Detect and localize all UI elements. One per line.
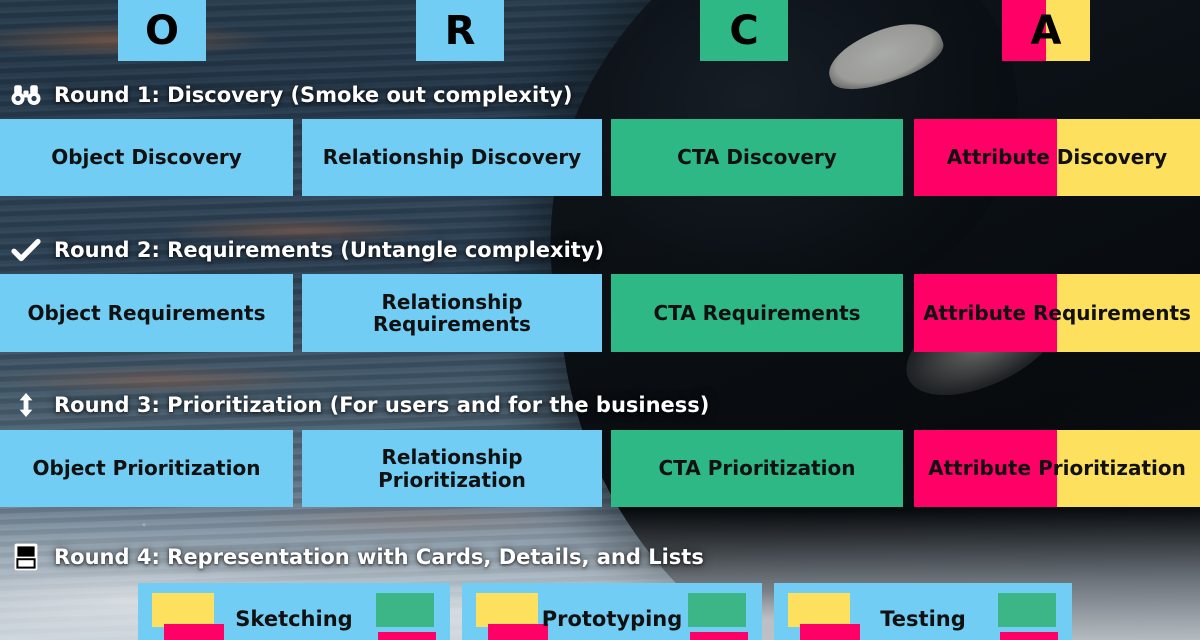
card-sketching-pink-swatch-2: [378, 632, 436, 640]
bar-cta-requirements-label: CTA Requirements: [647, 302, 866, 324]
bar-object-requirements-label: Object Requirements: [21, 302, 271, 324]
card-sketching-label: Sketching: [235, 607, 352, 631]
bar-cta-prioritization[interactable]: CTA Prioritization: [611, 430, 903, 507]
round-4-heading: Round 4: Representation with Cards, Deta…: [10, 540, 704, 574]
bar-attribute-prioritization[interactable]: Attribute Prioritization: [914, 430, 1200, 507]
card-testing-green-swatch: [998, 593, 1056, 627]
card-sketching-yellow-swatch: [152, 593, 214, 627]
bar-gap: [293, 119, 302, 196]
card-gap: [450, 583, 462, 640]
card-layout-icon: [10, 543, 42, 571]
round-1-bar-row: Object Discovery Relationship Discovery …: [0, 119, 1200, 196]
round-2-heading: Round 2: Requirements (Untangle complexi…: [10, 233, 604, 267]
bar-gap: [293, 430, 302, 507]
bar-attribute-requirements[interactable]: Attribute Requirements: [914, 274, 1200, 352]
card-testing-pink-swatch-2: [1000, 632, 1058, 640]
bar-gap: [602, 119, 611, 196]
card-prototyping-label: Prototyping: [542, 607, 683, 631]
card-testing-label: Testing: [880, 607, 966, 631]
bar-gap: [903, 274, 914, 352]
card-prototyping-pink-swatch: [488, 624, 548, 640]
bar-cta-discovery[interactable]: CTA Discovery: [611, 119, 903, 196]
bar-gap: [602, 430, 611, 507]
bar-cta-prioritization-label: CTA Prioritization: [653, 457, 862, 479]
checkmark-icon: [10, 236, 42, 264]
bar-gap: [293, 274, 302, 352]
bar-attribute-discovery[interactable]: Attribute Discovery: [914, 119, 1200, 196]
acronym-letter-a: A: [1002, 0, 1090, 61]
acronym-header-row: O R C A: [0, 0, 1200, 62]
acronym-letter-r-glyph: R: [445, 11, 476, 51]
card-testing-yellow-swatch: [788, 593, 850, 627]
round-1-heading: Round 1: Discovery (Smoke out complexity…: [10, 78, 572, 112]
acronym-letter-a-glyph: A: [1031, 11, 1062, 51]
round-3-heading: Round 3: Prioritization (For users and f…: [10, 388, 709, 422]
card-sketching[interactable]: Sketching: [138, 583, 450, 640]
card-sketching-green-swatch: [376, 593, 434, 627]
acronym-letter-c-glyph: C: [729, 11, 758, 51]
acronym-letter-r: R: [416, 0, 504, 61]
round-4-cards-row: Sketching Prototyping Testing: [0, 583, 1200, 640]
bar-object-discovery-label: Object Discovery: [45, 146, 248, 168]
card-sketching-pink-swatch: [164, 624, 224, 640]
card-prototyping-yellow-swatch: [476, 593, 538, 627]
bar-relationship-prioritization-label: Relationship Prioritization: [302, 446, 602, 491]
bar-object-prioritization[interactable]: Object Prioritization: [0, 430, 293, 507]
card-prototyping[interactable]: Prototyping: [462, 583, 762, 640]
card-prototyping-pink-swatch-2: [690, 632, 748, 640]
bar-object-prioritization-label: Object Prioritization: [27, 457, 267, 479]
bar-object-requirements[interactable]: Object Requirements: [0, 274, 293, 352]
round-3-title: Round 3: Prioritization (For users and f…: [54, 393, 709, 417]
bar-cta-discovery-label: CTA Discovery: [671, 146, 843, 168]
bar-cta-requirements[interactable]: CTA Requirements: [611, 274, 903, 352]
bar-relationship-requirements-label: Relationship Requirements: [302, 291, 602, 336]
bar-relationship-discovery[interactable]: Relationship Discovery: [302, 119, 602, 196]
bar-gap: [602, 274, 611, 352]
acronym-letter-c: C: [700, 0, 788, 61]
round-3-bar-row: Object Prioritization Relationship Prior…: [0, 430, 1200, 507]
orca-framework-slide: O R C A: [0, 0, 1200, 640]
up-down-arrow-icon: [10, 391, 42, 419]
round-2-bar-row: Object Requirements Relationship Require…: [0, 274, 1200, 352]
round-4-title: Round 4: Representation with Cards, Deta…: [54, 545, 704, 569]
bar-attribute-discovery-label: Attribute Discovery: [941, 146, 1173, 168]
bar-relationship-discovery-label: Relationship Discovery: [317, 146, 587, 168]
round-2-title: Round 2: Requirements (Untangle complexi…: [54, 238, 604, 262]
card-gap: [762, 583, 774, 640]
bar-attribute-prioritization-label: Attribute Prioritization: [922, 457, 1192, 479]
card-testing[interactable]: Testing: [774, 583, 1072, 640]
card-testing-pink-swatch: [800, 624, 860, 640]
acronym-letter-o-glyph: O: [145, 11, 179, 51]
bar-relationship-prioritization[interactable]: Relationship Prioritization: [302, 430, 602, 507]
bar-relationship-requirements[interactable]: Relationship Requirements: [302, 274, 602, 352]
acronym-letter-o: O: [118, 0, 206, 61]
bar-attribute-requirements-label: Attribute Requirements: [917, 302, 1197, 324]
bar-gap: [903, 119, 914, 196]
bar-object-discovery[interactable]: Object Discovery: [0, 119, 293, 196]
round-1-title: Round 1: Discovery (Smoke out complexity…: [54, 83, 572, 107]
binoculars-icon: [10, 81, 42, 109]
bar-gap: [903, 430, 914, 507]
card-prototyping-green-swatch: [688, 593, 746, 627]
